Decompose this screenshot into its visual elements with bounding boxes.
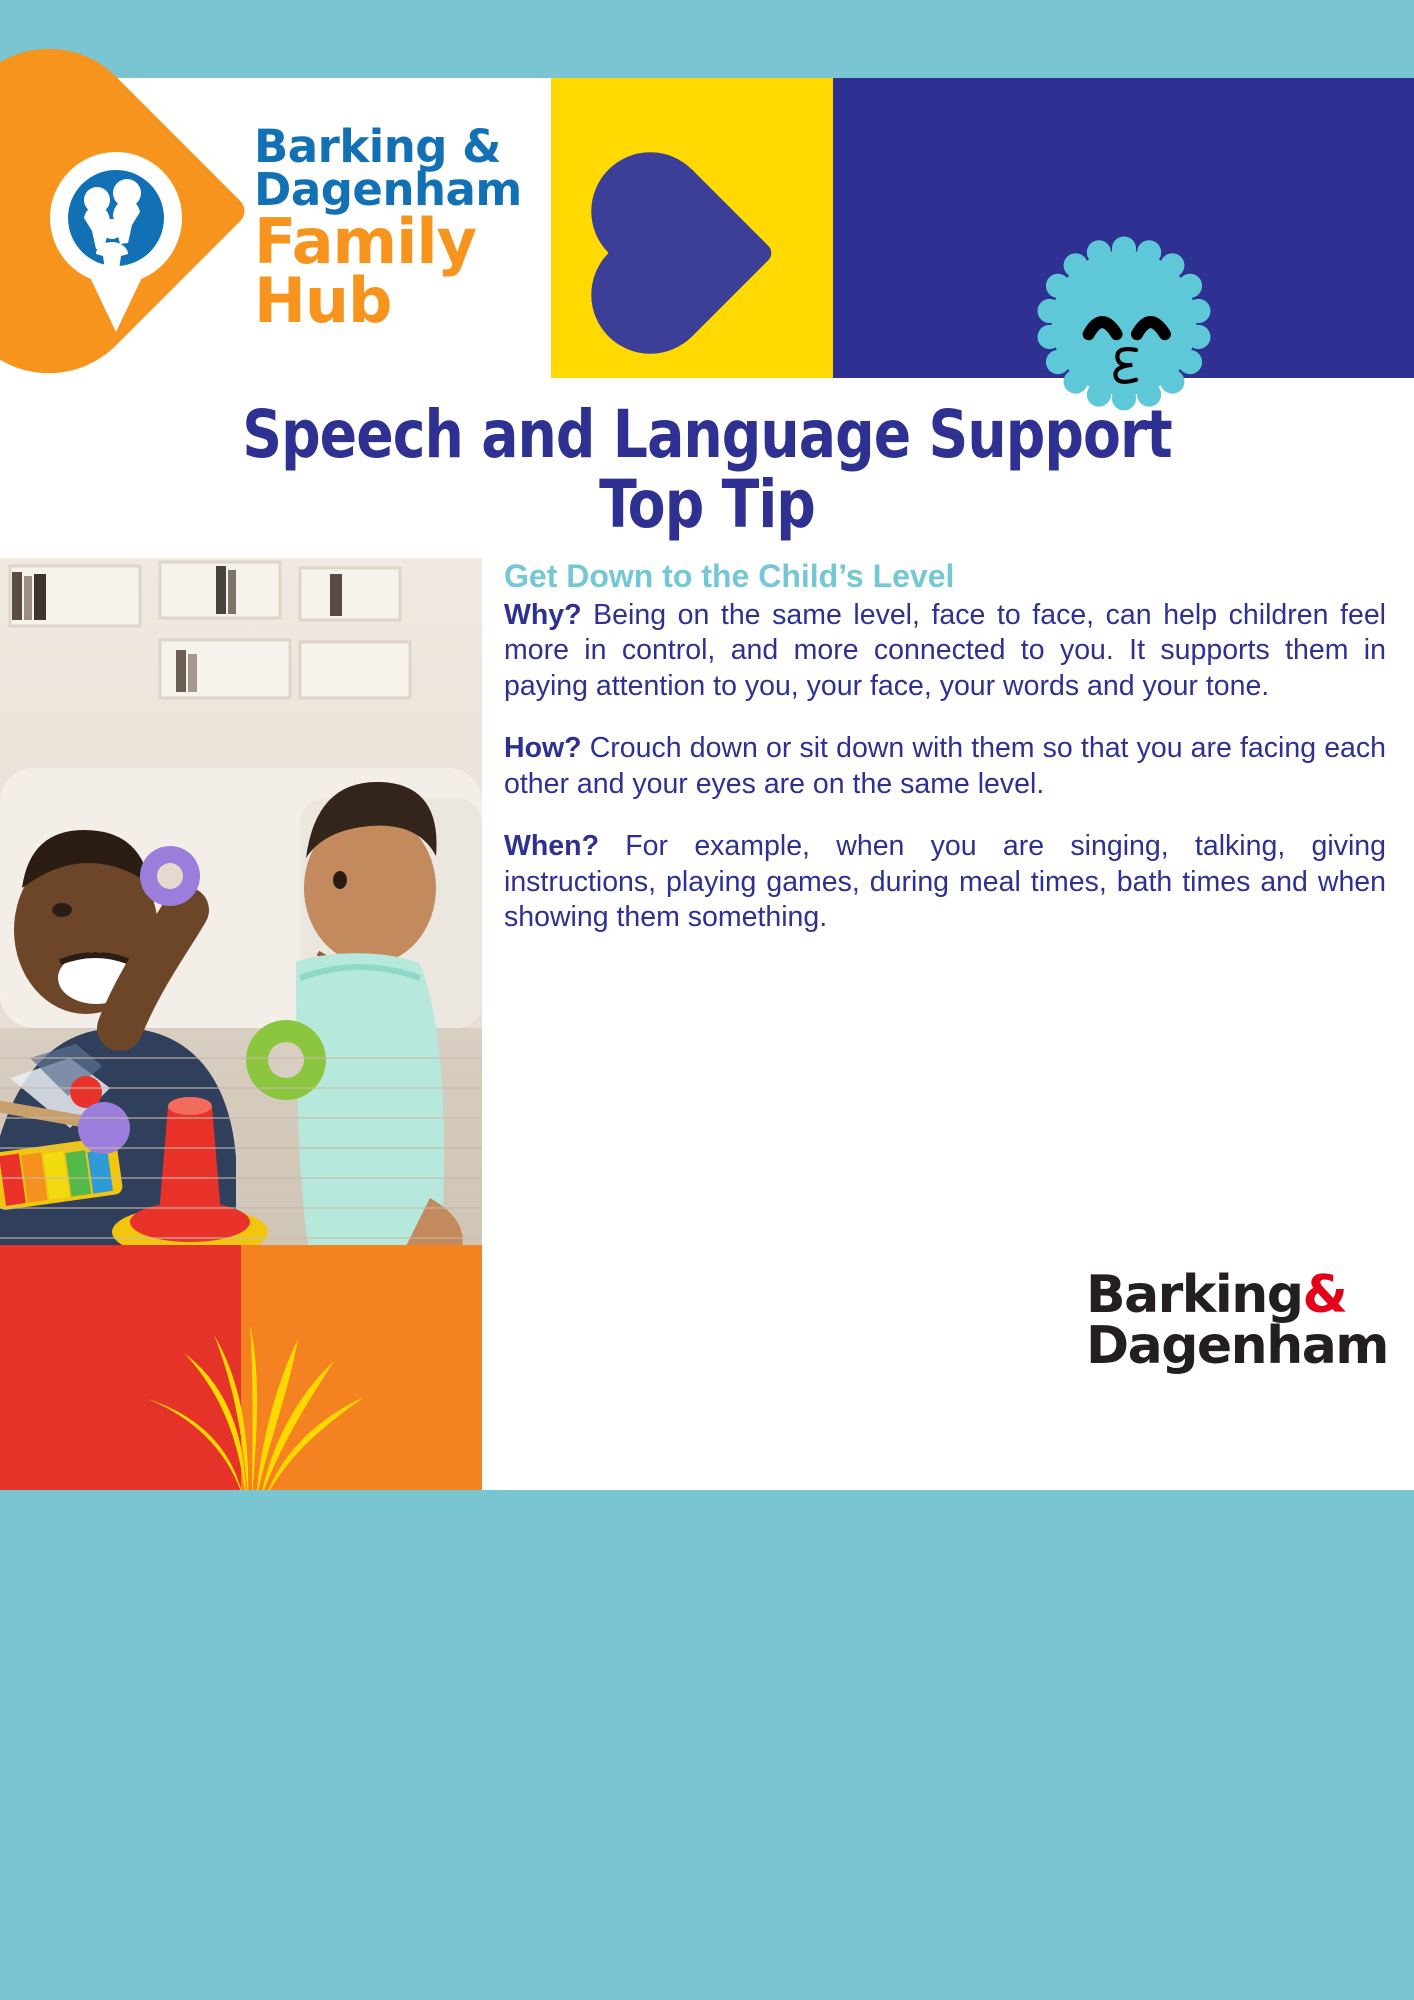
council-logo: Barking& Dagenham bbox=[1086, 1270, 1388, 1372]
family-photo bbox=[0, 558, 482, 1245]
paragraph-when-lead: When? bbox=[504, 830, 599, 862]
poster-sheet: Barking & Dagenham Family Hub bbox=[0, 78, 1414, 1490]
kissing-face-icon bbox=[1031, 230, 1217, 421]
photo-column bbox=[0, 558, 482, 1490]
copy-column: Get Down to the Child’s Level Why? Being… bbox=[482, 558, 1414, 1490]
family-hub-heart-logo bbox=[8, 108, 224, 348]
page-title-line-2: Top Tip bbox=[49, 470, 1364, 540]
heart-icon bbox=[609, 170, 776, 337]
paragraph-how: How? Crouch down or sit down with them s… bbox=[504, 731, 1386, 802]
council-logo-line-1: Barking& bbox=[1086, 1270, 1388, 1321]
sunburst-icon bbox=[118, 1323, 378, 1490]
page-title-line-1: Speech and Language Support bbox=[49, 400, 1364, 470]
paragraph-when-text: For example, when you are singing, talki… bbox=[504, 830, 1386, 933]
brand-line-1: Barking & bbox=[254, 125, 522, 168]
brand-block: Barking & Dagenham Family Hub bbox=[0, 78, 551, 378]
section-heading: Get Down to the Child’s Level bbox=[504, 558, 1386, 596]
content-area: Get Down to the Child’s Level Why? Being… bbox=[0, 558, 1414, 1490]
paragraph-why-text: Being on the same level, face to face, c… bbox=[504, 599, 1386, 702]
poster-root: Barking & Dagenham Family Hub bbox=[0, 0, 1414, 2000]
header-band: Barking & Dagenham Family Hub bbox=[0, 78, 1414, 378]
navy-panel bbox=[833, 78, 1414, 378]
paragraph-when: When? For example, when you are singing,… bbox=[504, 829, 1386, 935]
paragraph-why: Why? Being on the same level, face to fa… bbox=[504, 598, 1386, 704]
paragraph-why-lead: Why? bbox=[504, 599, 582, 631]
yellow-panel bbox=[551, 78, 833, 378]
brand-line-4: Hub bbox=[254, 271, 522, 331]
brand-line-3: Family bbox=[254, 212, 522, 272]
family-silhouette-icon bbox=[68, 170, 164, 266]
paragraph-how-text: Crouch down or sit down with them so tha… bbox=[504, 732, 1386, 799]
page-title: Speech and Language Support Top Tip bbox=[49, 400, 1364, 540]
council-logo-line-2: Dagenham bbox=[1086, 1321, 1388, 1372]
brand-wordmark: Barking & Dagenham Family Hub bbox=[254, 125, 522, 330]
paragraph-how-lead: How? bbox=[504, 732, 582, 764]
color-blocks bbox=[0, 1245, 482, 1490]
